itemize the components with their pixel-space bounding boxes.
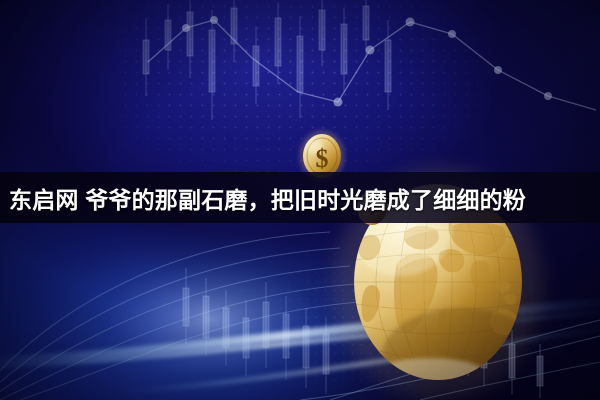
banner-image: ¥ $ 东启网 爷爷的那副石磨，把旧时光磨成了细细的粉	[0, 0, 600, 400]
page-title: 东启网 爷爷的那副石磨，把旧时光磨成了细细的粉	[9, 172, 595, 223]
